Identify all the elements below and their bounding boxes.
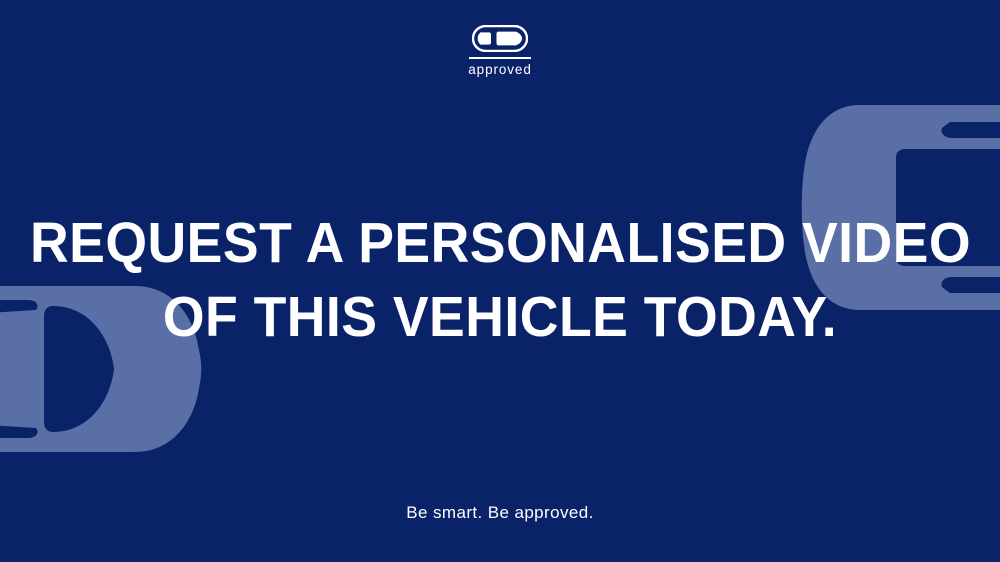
page-title: REQUEST A PERSONALISED VIDEO OF THIS VEH… <box>0 206 1000 354</box>
brand-tagline: Be smart. Be approved. <box>0 503 1000 523</box>
headline-line-2: OF THIS VEHICLE TODAY. <box>30 280 970 354</box>
brand-logo-lockup: approved <box>0 25 1000 77</box>
logo-wordmark: approved <box>468 63 532 77</box>
logo-divider-rule <box>469 57 531 59</box>
promo-banner: approved REQUEST A PERSONALISED VIDEO OF… <box>0 0 1000 562</box>
car-top-view-icon <box>472 25 528 52</box>
headline-line-1: REQUEST A PERSONALISED VIDEO <box>30 206 970 280</box>
